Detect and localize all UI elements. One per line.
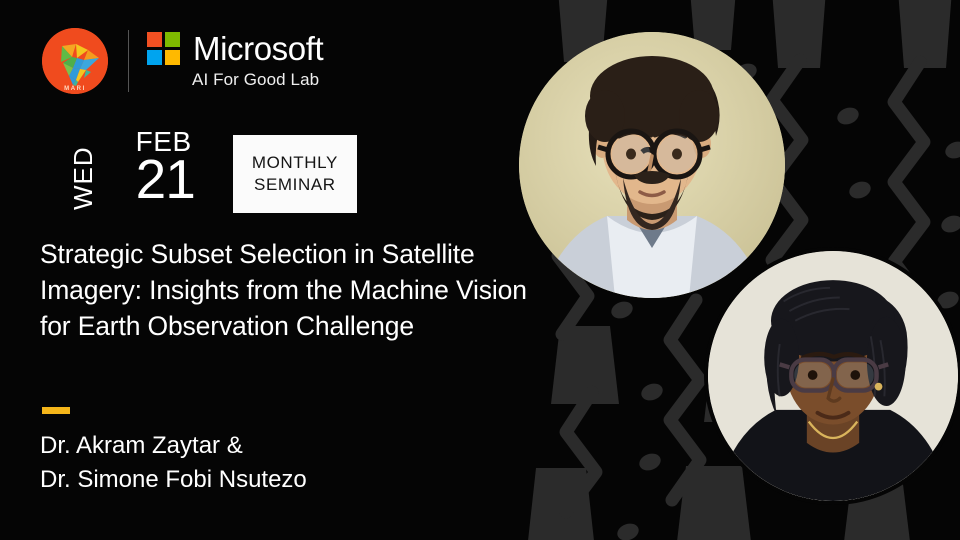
mari-logo-icon: MARI xyxy=(42,28,108,94)
seminar-poster: MARI Microsoft AI For Good Lab WED FEB 2… xyxy=(0,0,960,540)
logo-divider xyxy=(128,30,129,92)
monthly-seminar-badge: MONTHLY SEMINAR xyxy=(233,135,357,213)
event-day: 21 xyxy=(136,152,195,207)
accent-bar xyxy=(42,407,70,414)
event-date-block: WED FEB 21 MONTHLY SEMINAR xyxy=(40,128,357,213)
badge-line-1: MONTHLY xyxy=(252,152,338,174)
svg-text:MARI: MARI xyxy=(64,86,86,92)
microsoft-sublabel: AI For Good Lab xyxy=(192,70,323,90)
microsoft-four-squares-icon xyxy=(147,32,180,65)
speaker-portrait-simone-fobi-nsutezo xyxy=(704,247,960,505)
microsoft-wordmark: Microsoft xyxy=(193,32,323,65)
logo-row: MARI Microsoft AI For Good Lab xyxy=(42,28,323,94)
badge-line-2: SEMINAR xyxy=(254,174,336,196)
speaker-names: Dr. Akram Zaytar & Dr. Simone Fobi Nsute… xyxy=(40,429,510,497)
microsoft-logo-block: Microsoft AI For Good Lab xyxy=(147,32,323,90)
talk-title: Strategic Subset Selection in Satellite … xyxy=(40,237,545,344)
event-month-day: FEB 21 xyxy=(136,128,195,207)
speaker-portrait-akram-zaytar xyxy=(519,32,785,298)
